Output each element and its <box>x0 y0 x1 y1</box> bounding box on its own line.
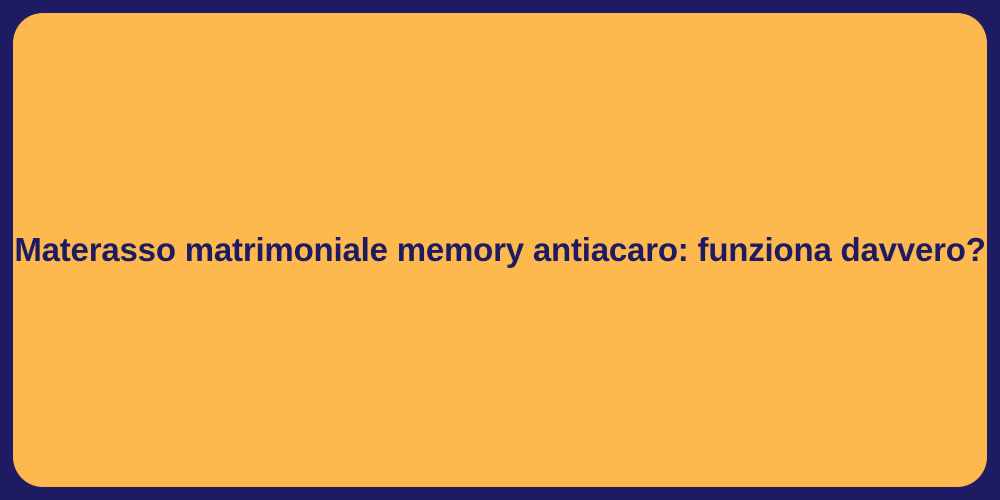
banner-heading: Materasso matrimoniale memory antiacaro:… <box>13 229 987 270</box>
banner-panel: Materasso matrimoniale memory antiacaro:… <box>13 13 987 487</box>
banner-frame: Materasso matrimoniale memory antiacaro:… <box>0 0 1000 500</box>
